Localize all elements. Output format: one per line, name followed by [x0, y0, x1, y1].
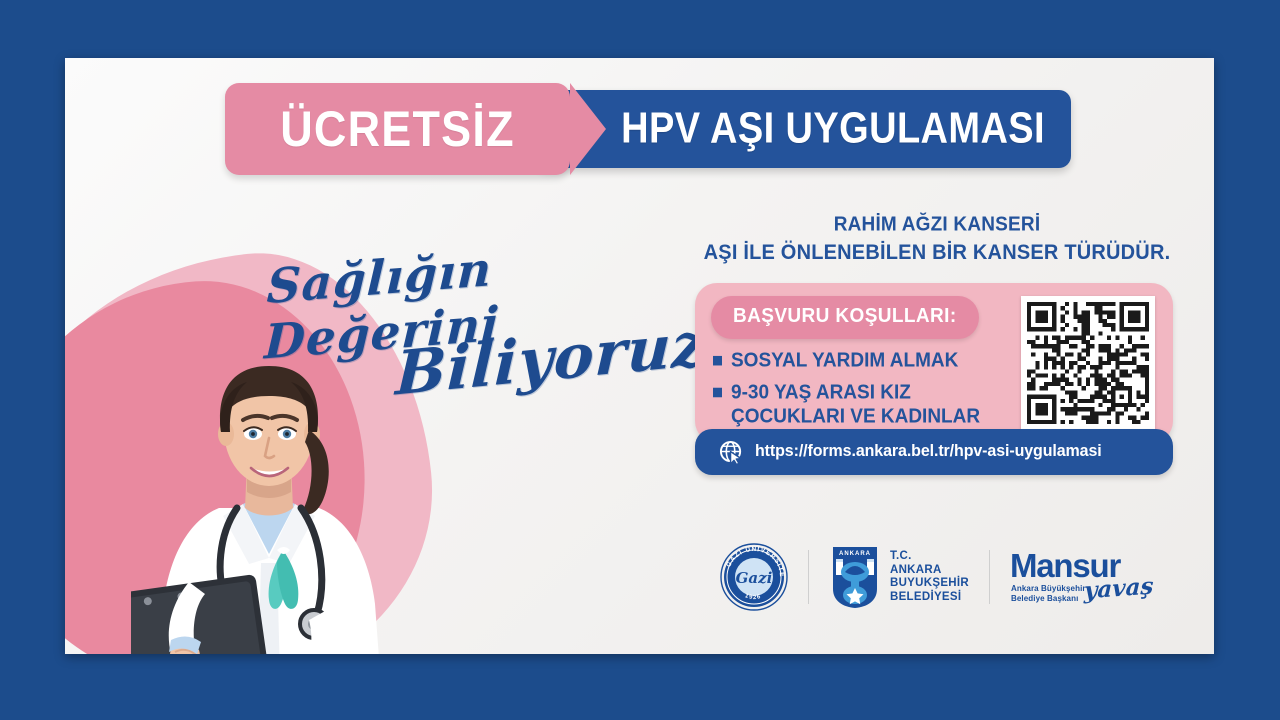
ankara-crest-icon: ANKARA [829, 545, 881, 609]
banner-arrow-icon [570, 83, 606, 175]
logo-ankara-buyuksehir: ANKARA T.C. ANKARA BUYUKŞEHİR [829, 540, 969, 614]
list-item: 9-30 YAŞ ARASI KIZ ÇOCUKLARI VE KADINLAR [713, 380, 1013, 429]
svg-text:Gazi: Gazi [736, 569, 773, 587]
qr-code[interactable] [1021, 296, 1155, 430]
poster-root: HPV AŞI UYGULAMASI ÜCRETSİZ Sağlığın Değ… [0, 0, 1280, 720]
logo-mansur-yavas: Mansur yavaş Ankara Büyükşehir Belediye … [1010, 540, 1160, 614]
mansur-sub-line-1: Ankara Büyükşehir [1011, 584, 1086, 594]
script-line-2: Biliyoruz! [394, 306, 735, 409]
globe-cursor-icon [719, 440, 744, 465]
subheadline-line-2: AŞI İLE ÖNLENEBİLEN BİR KANSER TÜRÜDÜR. [687, 239, 1187, 267]
right-column: RAHİM AĞZI KANSERİ AŞI İLE ÖNLENEBİLEN B… [687, 213, 1187, 475]
conditions-title: BAŞVURU KOŞULLARI: [711, 296, 979, 339]
gazi-seal-icon: GAZİ ÜNİVERSİTESİ 1926 Gazi [720, 543, 788, 611]
logo-divider [989, 550, 990, 604]
logo-strip: GAZİ ÜNİVERSİTESİ 1926 Gazi ANKARA [720, 536, 1160, 618]
mansur-sub-line-2: Belediye Başkanı [1011, 594, 1086, 604]
subheadline: RAHİM AĞZI KANSERİ AŞI İLE ÖNLENEBİLEN B… [687, 211, 1187, 266]
url-bar[interactable]: https://forms.ankara.bel.tr/hpv-asi-uygu… [695, 429, 1173, 475]
logo-gazi-universitesi: GAZİ ÜNİVERSİTESİ 1926 Gazi [720, 540, 788, 614]
mansur-subtitle: Ankara Büyükşehir Belediye Başkanı [1011, 584, 1086, 604]
bullet-square-icon [713, 356, 722, 366]
banner-blue-label: HPV AŞI UYGULAMASI [621, 104, 1045, 153]
ankara-line-4: BELEDİYESİ [890, 591, 969, 605]
poster-card: HPV AŞI UYGULAMASI ÜCRETSİZ Sağlığın Değ… [65, 58, 1214, 654]
bullet-square-icon [713, 388, 722, 398]
doctor-illustration [131, 358, 421, 654]
banner-pink: ÜCRETSİZ [225, 83, 570, 175]
ankara-line-1: T.C. [890, 550, 969, 564]
mansur-script: yavaş [1084, 573, 1154, 605]
conditions-list: SOSYAL YARDIM ALMAK 9-30 YAŞ ARASI KIZ Ç… [713, 349, 1013, 437]
ankara-line-2: ANKARA [890, 564, 969, 578]
url-text: https://forms.ankara.bel.tr/hpv-asi-uygu… [755, 443, 1102, 462]
ankara-logo-text: T.C. ANKARA BUYUKŞEHİR BELEDİYESİ [890, 550, 969, 604]
list-item-label: SOSYAL YARDIM ALMAK [731, 349, 958, 373]
list-item: SOSYAL YARDIM ALMAK [713, 349, 1013, 373]
ankara-line-3: BUYUKŞEHİR [890, 577, 969, 591]
logo-divider [808, 550, 809, 604]
banner-blue: HPV AŞI UYGULAMASI [536, 90, 1071, 168]
conditions-card: BAŞVURU KOŞULLARI: SOSYAL YARDIM ALMAK 9… [695, 283, 1173, 443]
svg-text:ANKARA: ANKARA [839, 551, 871, 557]
mansur-logo: Mansur yavaş Ankara Büyükşehir Belediye … [1010, 543, 1160, 611]
banner-pink-label: ÜCRETSİZ [280, 100, 515, 158]
list-item-label: 9-30 YAŞ ARASI KIZ ÇOCUKLARI VE KADINLAR [731, 380, 1013, 429]
subheadline-line-1: RAHİM AĞZI KANSERİ [687, 211, 1187, 239]
